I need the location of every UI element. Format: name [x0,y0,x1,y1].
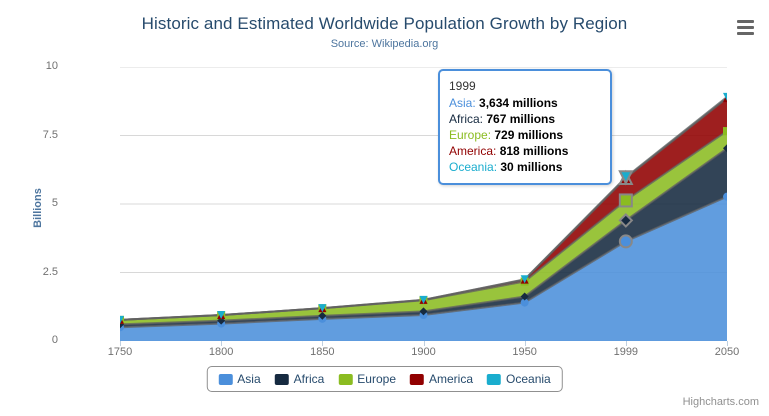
point-marker-europe[interactable] [620,194,632,206]
tooltip-rows: Asia: 3,634 millionsAfrica: 767 millions… [449,95,601,175]
x-axis-tick-label: 1900 [394,346,454,358]
tooltip-row: Europe: 729 millions [449,127,601,143]
tooltip-series-value: 30 millions [500,160,562,174]
hamburger-menu-icon[interactable] [733,16,757,38]
x-axis-tick-mark [120,341,121,346]
chart-subtitle: Source: Wikipedia.org [0,38,769,50]
x-axis-tick-mark [525,341,526,346]
tooltip: 1999 Asia: 3,634 millionsAfrica: 767 mil… [438,69,612,185]
legend-item-america[interactable]: America [410,372,473,386]
hamburger-bar [737,20,754,23]
x-axis-tick-label: 2050 [697,346,757,358]
chart-title: Historic and Estimated Worldwide Populat… [0,14,769,34]
tooltip-row: Africa: 767 millions [449,111,601,127]
y-axis-tick-label: 0 [18,334,58,346]
tooltip-row: Asia: 3,634 millions [449,95,601,111]
legend-label: Africa [294,372,325,386]
legend[interactable]: AsiaAfricaEuropeAmericaOceania [206,366,562,392]
x-axis-tick-mark [221,341,222,346]
y-axis-tick-label: 5 [18,197,58,209]
legend-swatch [410,374,424,385]
legend-item-asia[interactable]: Asia [218,372,260,386]
x-axis-tick-mark [626,341,627,346]
tooltip-series-value: 767 millions [486,112,555,126]
y-axis-tick-label: 2.5 [18,266,58,278]
y-axis-tick-label: 10 [18,60,58,72]
tooltip-series-value: 729 millions [494,128,563,142]
x-axis-tick-label: 1800 [191,346,251,358]
x-axis-tick-label: 1850 [292,346,352,358]
point-marker-europe[interactable] [723,127,727,135]
point-marker-asia[interactable] [620,235,632,247]
legend-label: Oceania [506,372,551,386]
tooltip-series-name: America: [449,144,500,158]
x-axis-tick-mark [727,341,728,346]
tooltip-row: Oceania: 30 millions [449,159,601,175]
legend-label: Asia [237,372,260,386]
hamburger-bar [737,26,754,29]
legend-swatch [338,374,352,385]
legend-label: America [429,372,473,386]
y-axis-tick-label: 7.5 [18,129,58,141]
legend-swatch [218,374,232,385]
highcharts-container: Historic and Estimated Worldwide Populat… [0,0,769,416]
tooltip-series-name: Africa: [449,112,486,126]
credits-label: Highcharts.com [683,396,759,408]
tooltip-series-name: Asia: [449,96,479,110]
legend-swatch [487,374,501,385]
legend-item-africa[interactable]: Africa [275,372,325,386]
x-axis-tick-mark [322,341,323,346]
x-axis-tick-label: 1750 [90,346,150,358]
tooltip-series-value: 818 millions [500,144,569,158]
tooltip-category: 1999 [449,78,601,94]
legend-item-europe[interactable]: Europe [338,372,396,386]
tooltip-row: America: 818 millions [449,143,601,159]
legend-label: Europe [357,372,396,386]
legend-item-oceania[interactable]: Oceania [487,372,551,386]
plot-area [120,67,727,341]
series-layer [120,67,727,341]
tooltip-series-name: Oceania: [449,160,500,174]
hamburger-bar [737,32,754,35]
tooltip-series-name: Europe: [449,128,494,142]
x-axis-tick-label: 1999 [596,346,656,358]
x-axis-tick-mark [424,341,425,346]
tooltip-series-value: 3,634 millions [479,96,558,110]
x-axis-tick-label: 1950 [495,346,555,358]
legend-swatch [275,374,289,385]
